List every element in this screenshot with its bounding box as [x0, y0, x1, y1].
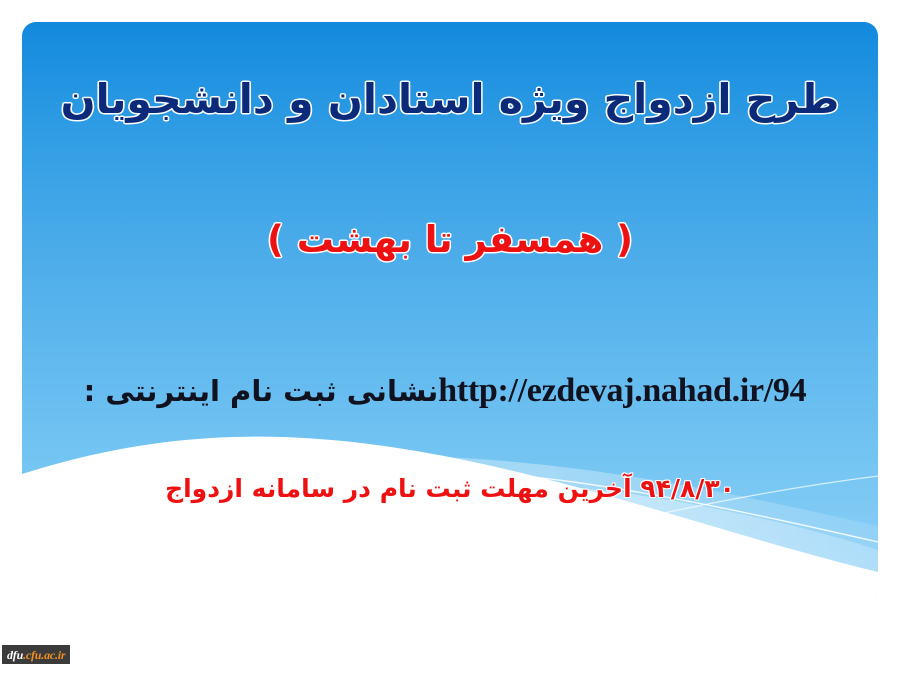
site-watermark-badge: dfu.cfu.ac.ir [2, 645, 70, 664]
deadline-date: ۹۴/۸/۳۰ [640, 474, 735, 503]
deadline-text: آخرین مهلت ثبت نام در سامانه ازدواج [165, 474, 632, 503]
page-title: طرح ازدواج ویژه استادان و دانشجویان [22, 74, 878, 125]
watermark-suffix: .cfu.ac.ir [23, 649, 65, 661]
announcement-slide: طرح ازدواج ویژه استادان و دانشجویان ( هم… [0, 0, 900, 675]
blue-gradient-panel: طرح ازدواج ویژه استادان و دانشجویان ( هم… [22, 22, 878, 606]
registration-label: نشانی ثبت نام اینترنتی : [84, 374, 439, 408]
watermark-prefix: dfu [7, 649, 23, 661]
slide-content: طرح ازدواج ویژه استادان و دانشجویان ( هم… [22, 22, 878, 606]
deadline-line: ۹۴/۸/۳۰ آخرین مهلت ثبت نام در سامانه ازد… [22, 474, 878, 503]
registration-url[interactable]: http://ezdevaj.nahad.ir/94 [438, 372, 806, 409]
registration-line: http://ezdevaj.nahad.ir/94نشانی ثبت نام … [22, 372, 878, 410]
program-slogan: ( همسفر تا بهشت ) [22, 218, 878, 261]
